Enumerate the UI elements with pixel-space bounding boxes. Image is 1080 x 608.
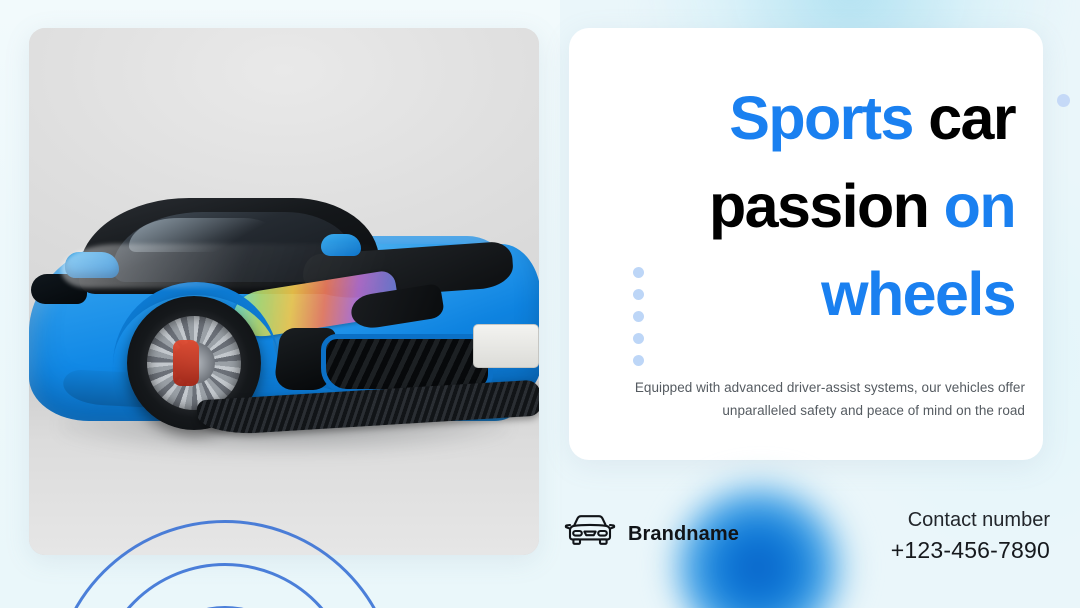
page-title: Sports car passion on wheels [593, 74, 1015, 338]
decorative-dot [633, 333, 644, 344]
decorative-dots-column [633, 267, 644, 366]
car-license-plate [473, 324, 539, 368]
edge-dot-decoration [1057, 94, 1070, 107]
car-front-icon [564, 512, 616, 557]
brand-name: Brandname [628, 523, 739, 546]
body-copy: Equipped with advanced driver-assist sys… [613, 376, 1025, 422]
headline-word-sports: Sports [729, 84, 913, 152]
headline-word-car: car [928, 84, 1015, 152]
decorative-dot [633, 289, 644, 300]
headline-word-passion: passion [709, 172, 928, 240]
decorative-dot [633, 311, 644, 322]
sports-car-illustration [29, 178, 539, 488]
contact-block: Contact number +123-456-7890 [891, 506, 1050, 566]
car-photo-card [29, 28, 539, 555]
contact-label: Contact number [891, 506, 1050, 534]
brand-lockup[interactable]: Brandname [564, 512, 739, 557]
content-card: Sports car passion on wheels Equipped wi… [569, 28, 1043, 460]
contact-number[interactable]: +123-456-7890 [891, 534, 1050, 566]
headline-word-wheels: wheels [821, 260, 1015, 328]
decorative-dot [633, 267, 644, 278]
car-body-gloss [61, 244, 391, 288]
decorative-dot [633, 355, 644, 366]
headline-word-on: on [944, 172, 1015, 240]
car-brake-caliper [173, 340, 199, 386]
